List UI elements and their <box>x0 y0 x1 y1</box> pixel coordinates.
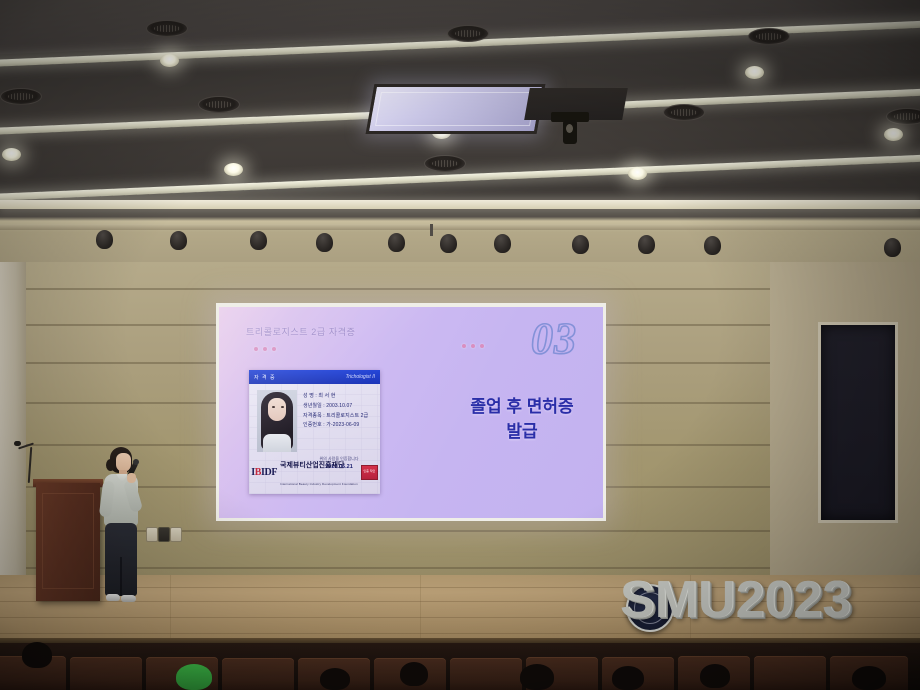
floor-seam <box>420 575 421 645</box>
ceiling-dome-speaker-icon <box>388 233 405 252</box>
wall-left-pilaster <box>0 262 26 580</box>
ceiling <box>0 0 920 208</box>
slide-dot-group-right <box>462 344 484 348</box>
ceiling-downlight <box>224 163 243 176</box>
certificate-bar-label: 자 격 증 <box>254 374 276 381</box>
ceiling-speaker-icon <box>447 25 489 42</box>
slide-headline-line-2: 발급 <box>447 420 597 445</box>
ceiling-dome-speaker-icon <box>884 238 901 257</box>
audience-head-green-cap <box>176 664 212 690</box>
audience-head <box>520 664 554 690</box>
certificate-field-list: 성 명 : 최 서 현 생년월일 : 2003.10.07 자격종목 : 트리콜… <box>303 392 375 431</box>
portrait-face <box>268 398 286 421</box>
presenter-hand <box>127 473 136 483</box>
signage-letter: M <box>655 578 697 622</box>
floor-seam <box>170 575 171 645</box>
certificate-field: 생년월일 : 2003.10.07 <box>303 402 375 412</box>
presenter-shoe <box>106 594 120 601</box>
floor-plank-line <box>0 633 920 634</box>
ceiling-dome-speaker-icon <box>440 234 457 253</box>
ledge-rail <box>0 224 920 230</box>
ceiling-speaker-icon <box>748 28 790 45</box>
audience-seating-area <box>0 643 920 690</box>
certificate-field: 성 명 : 최 서 현 <box>303 392 375 402</box>
certificate-image: 자 격 증 Trichologist II 성 명 : 최 서 현 생년월일 :… <box>249 370 380 494</box>
ceiling-skylight-panel <box>366 84 546 134</box>
certificate-bar-subtitle: Trichologist II <box>346 374 375 380</box>
ceiling-dome-speaker-icon <box>250 231 267 250</box>
hanging-fixture-wire <box>430 224 433 236</box>
ceiling-speaker-icon <box>198 96 240 113</box>
ceiling-speaker-icon <box>663 104 705 121</box>
ceiling-downlight <box>2 148 21 161</box>
slide-headline-line-1: 졸업 후 면허증 <box>447 395 597 420</box>
ceiling-dome-speaker-icon <box>638 235 655 254</box>
issuer-abbreviation: IBIDF <box>251 467 277 478</box>
slide-headline: 졸업 후 면허증 발급 <box>447 395 597 444</box>
signage-letter: 2 <box>793 578 821 622</box>
ceiling-speaker-icon <box>424 155 466 172</box>
signage-letter: U <box>698 578 735 622</box>
dot-icon <box>462 344 466 348</box>
audience-head <box>400 662 428 686</box>
podium <box>36 483 100 601</box>
cove-light <box>0 200 920 209</box>
signage-letter: 3 <box>822 578 850 622</box>
slide-dot-group-left <box>254 347 276 351</box>
dot-icon <box>471 344 475 348</box>
podium-microphone-icon <box>14 441 21 446</box>
seat <box>70 657 142 690</box>
ceiling-speaker-icon <box>886 108 920 125</box>
upper-wall-ledge <box>0 200 920 270</box>
dot-icon <box>272 347 276 351</box>
ceiling-dome-speaker-icon <box>494 234 511 253</box>
seat <box>450 658 522 690</box>
certificate-header-bar: 자 격 증 Trichologist II <box>249 370 380 384</box>
ceiling-dome-speaker-icon <box>704 236 721 255</box>
wall-dark-panel <box>818 322 898 523</box>
ceiling-downlight <box>628 167 647 180</box>
ceiling-dome-speaker-icon <box>316 233 333 252</box>
projected-slide: 트리콜로지스트 2급 자격증 03 졸업 후 면허증 발급 자 격 증 Tric… <box>219 307 603 518</box>
signage-letter: 2 <box>736 578 764 622</box>
portrait-eye <box>281 406 284 408</box>
ceiling-dome-speaker-icon <box>96 230 113 249</box>
audience-head <box>22 642 52 668</box>
presenter <box>94 447 148 607</box>
certificate-portrait-photo <box>257 390 297 452</box>
audience-head <box>320 668 350 690</box>
ceiling-dome-speaker-icon <box>572 235 589 254</box>
microphone-head <box>133 459 139 465</box>
ceiling-speaker-icon <box>146 20 188 37</box>
ceiling-dome-speaker-icon <box>170 231 187 250</box>
seat <box>222 658 294 690</box>
issuer-names: 국제뷰티산업진흥재단 International Beauty Industry… <box>280 454 358 490</box>
dot-icon <box>480 344 484 348</box>
projector-lens-icon <box>566 124 573 133</box>
wall-outlet[interactable] <box>158 527 170 542</box>
ceiling-downlight <box>884 128 903 141</box>
ceiling-speaker-icon <box>0 88 42 105</box>
wall-outlet[interactable] <box>170 527 182 542</box>
dot-icon <box>254 347 258 351</box>
smu-2023-signage: S M U 2 0 2 3 <box>620 578 850 622</box>
portrait-eye <box>272 406 275 408</box>
signage-letter: S <box>620 578 654 622</box>
official-seal-stamp: 인증 직인 <box>361 465 378 480</box>
auditorium-scene: 트리콜로지스트 2급 자격증 03 졸업 후 면허증 발급 자 격 증 Tric… <box>0 0 920 690</box>
slide-section-number: 03 <box>531 313 577 364</box>
signage-letter: 0 <box>765 578 793 622</box>
dot-icon <box>263 347 267 351</box>
audience-head <box>852 666 886 690</box>
presenter-leg-split <box>120 557 122 596</box>
presenter-shoe <box>121 595 136 602</box>
certificate-field: 자격종목 : 트리콜로지스트 2급 <box>303 412 375 422</box>
ceiling-downlight <box>745 66 764 79</box>
issuer-name-en: International Beauty Industry Developmen… <box>280 482 358 486</box>
portrait-shoulders <box>263 434 291 452</box>
audience-head <box>612 666 644 690</box>
audience-head <box>700 664 730 688</box>
certificate-issuer: IBIDF 국제뷰티산업진흥재단 International Beauty In… <box>249 454 380 490</box>
certificate-field: 인증번호 : 가-2023-06-09 <box>303 421 375 431</box>
seat <box>754 656 826 690</box>
podium-front-panel <box>42 493 94 589</box>
presenter-hair-bun <box>106 459 115 471</box>
slide-title: 트리콜로지스트 2급 자격증 <box>246 325 356 338</box>
issuer-name-kr: 국제뷰티산업진흥재단 <box>280 462 344 469</box>
ceiling-downlight <box>160 54 179 67</box>
